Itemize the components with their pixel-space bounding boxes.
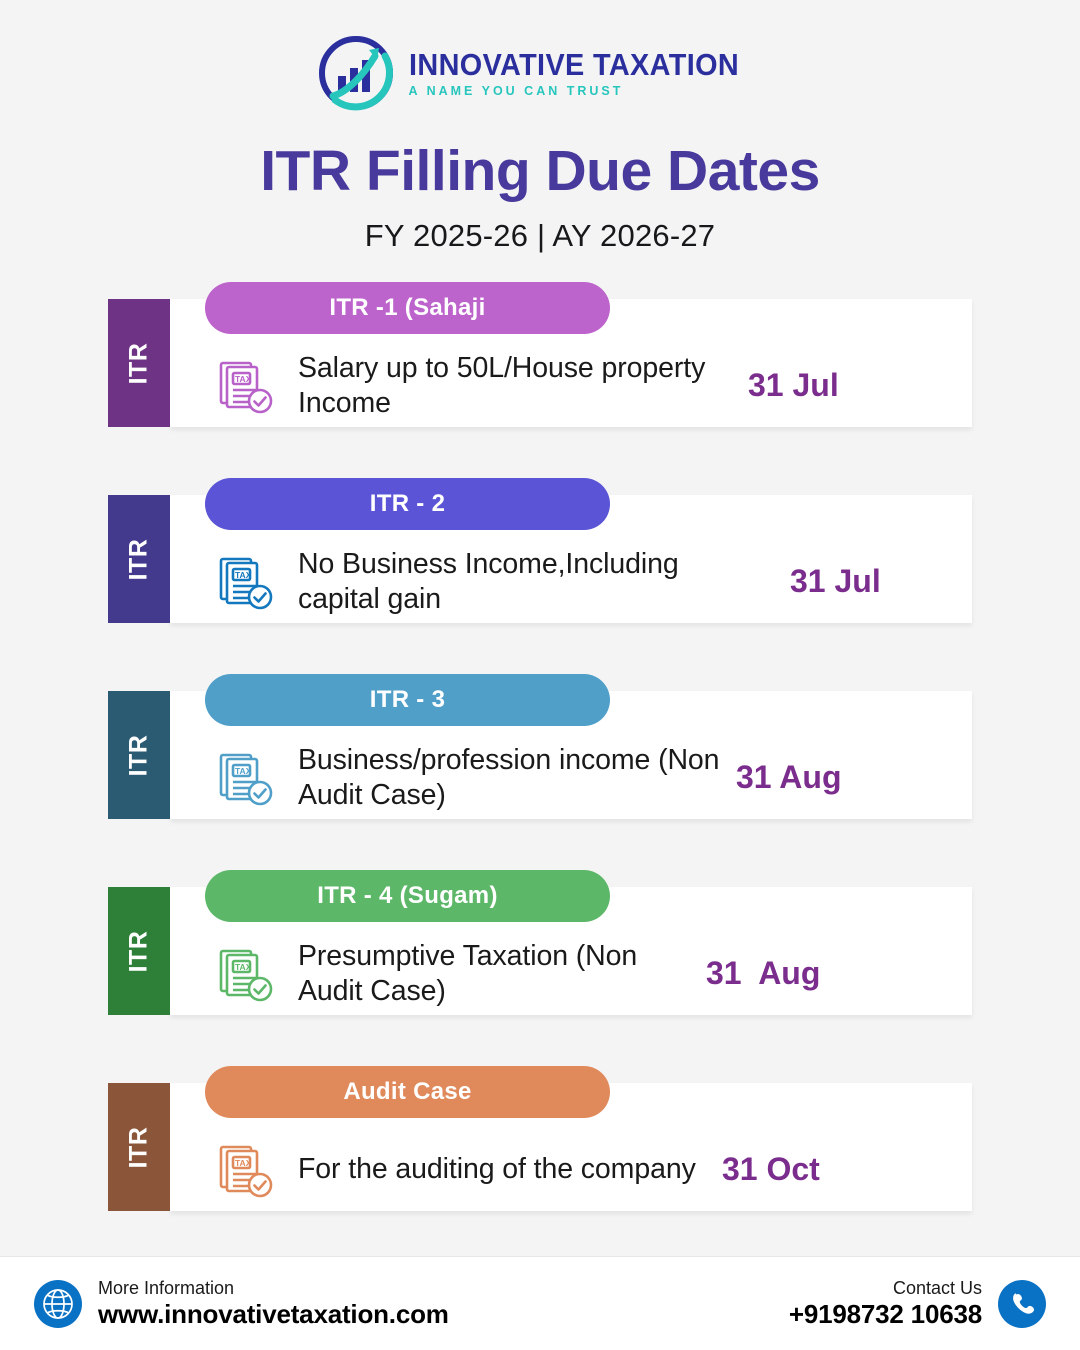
row-due-date: 31 Jul	[728, 367, 928, 404]
svg-text:TAX: TAX	[235, 766, 252, 776]
row-body: TAX Presumptive Taxation (Non Audit Case…	[170, 932, 972, 1015]
row-side-tab: ITR	[108, 887, 170, 1015]
row-body: TAX For the auditing of the company 31 O…	[170, 1128, 972, 1211]
tax-document-check-icon: TAX	[216, 943, 278, 1005]
row-description: No Business Income,Including capital gai…	[298, 547, 768, 617]
row-title-pill[interactable]: Audit Case	[205, 1066, 610, 1118]
row-side-tab: ITR	[108, 1083, 170, 1211]
footer-contact-block[interactable]: Contact Us +9198732 10638	[789, 1278, 1046, 1330]
row-side-tab-label: ITR	[125, 930, 154, 972]
list-item: ITR ITR - 4 (Sugam) TA	[0, 870, 1080, 1040]
row-due-date: 31 Jul	[768, 563, 968, 600]
row-side-tab-label: ITR	[125, 734, 154, 776]
tax-document-check-icon: TAX	[216, 355, 278, 417]
row-side-tab-label: ITR	[125, 538, 154, 580]
row-side-tab: ITR	[108, 691, 170, 819]
svg-text:TAX: TAX	[235, 962, 252, 972]
row-body: TAX Salary up to 50L/House property Inco…	[170, 344, 972, 427]
page-title: ITR Filling Due Dates	[0, 138, 1080, 204]
row-side-tab-label: ITR	[125, 1126, 154, 1168]
tax-document-check-icon: TAX	[216, 551, 278, 613]
globe-icon	[34, 1280, 82, 1328]
tax-document-check-icon: TAX	[216, 1139, 278, 1201]
row-due-date: 31 Aug	[698, 955, 898, 992]
growth-chart-circle-icon	[317, 34, 395, 112]
list-item: ITR ITR - 2 TAX	[0, 478, 1080, 648]
list-item: ITR ITR - 3 TAX	[0, 674, 1080, 844]
row-title-pill-label: ITR - 4 (Sugam)	[317, 882, 498, 910]
footer-phone-number[interactable]: +9198732 10638	[789, 1299, 982, 1330]
svg-text:TAX: TAX	[235, 1158, 252, 1168]
footer-website-caption: More Information	[98, 1278, 449, 1299]
header: INNOVATIVE TAXATION A NAME YOU CAN TRUST…	[0, 0, 1080, 254]
row-title-pill-label: ITR - 2	[370, 490, 445, 518]
brand-name: INNOVATIVE TAXATION	[409, 49, 739, 80]
row-title-pill-label: Audit Case	[343, 1078, 471, 1106]
list-item: ITR Audit Case TAX	[0, 1066, 1080, 1236]
svg-text:TAX: TAX	[235, 570, 252, 580]
phone-icon	[998, 1280, 1046, 1328]
list-item: ITR ITR -1 (Sahaji TAX	[0, 282, 1080, 452]
row-description: Business/profession income (Non Audit Ca…	[298, 743, 728, 813]
tax-document-check-icon: TAX	[216, 747, 278, 809]
row-title-pill[interactable]: ITR - 3	[205, 674, 610, 726]
footer-website-block[interactable]: More Information www.innovativetaxation.…	[34, 1278, 449, 1330]
page-subtitle: FY 2025-26 | AY 2026-27	[0, 218, 1080, 254]
footer-website-url[interactable]: www.innovativetaxation.com	[98, 1299, 449, 1330]
row-title-pill[interactable]: ITR - 4 (Sugam)	[205, 870, 610, 922]
row-title-pill[interactable]: ITR -1 (Sahaji	[205, 282, 610, 334]
row-description: Salary up to 50L/House property Income	[298, 351, 728, 421]
row-side-tab-label: ITR	[125, 342, 154, 384]
row-title-pill-label: ITR -1 (Sahaji	[329, 294, 485, 322]
row-description: Presumptive Taxation (Non Audit Case)	[298, 939, 698, 1009]
itr-due-date-list: ITR ITR -1 (Sahaji TAX	[0, 282, 1080, 1236]
svg-text:TAX: TAX	[235, 374, 252, 384]
row-description: For the auditing of the company	[298, 1152, 698, 1187]
row-title-pill[interactable]: ITR - 2	[205, 478, 610, 530]
brand-tagline: A NAME YOU CAN TRUST	[409, 85, 764, 98]
footer: More Information www.innovativetaxation.…	[0, 1256, 1080, 1350]
row-side-tab: ITR	[108, 495, 170, 623]
footer-contact-caption: Contact Us	[789, 1278, 982, 1299]
row-body: TAX Business/profession income (Non Audi…	[170, 736, 972, 819]
brand-logo: INNOVATIVE TAXATION A NAME YOU CAN TRUST	[0, 34, 1080, 112]
row-title-pill-label: ITR - 3	[370, 686, 445, 714]
row-side-tab: ITR	[108, 299, 170, 427]
row-due-date: 31 Aug	[728, 759, 928, 796]
row-due-date: 31 Oct	[698, 1151, 898, 1188]
row-body: TAX No Business Income,Including capital…	[170, 540, 972, 623]
